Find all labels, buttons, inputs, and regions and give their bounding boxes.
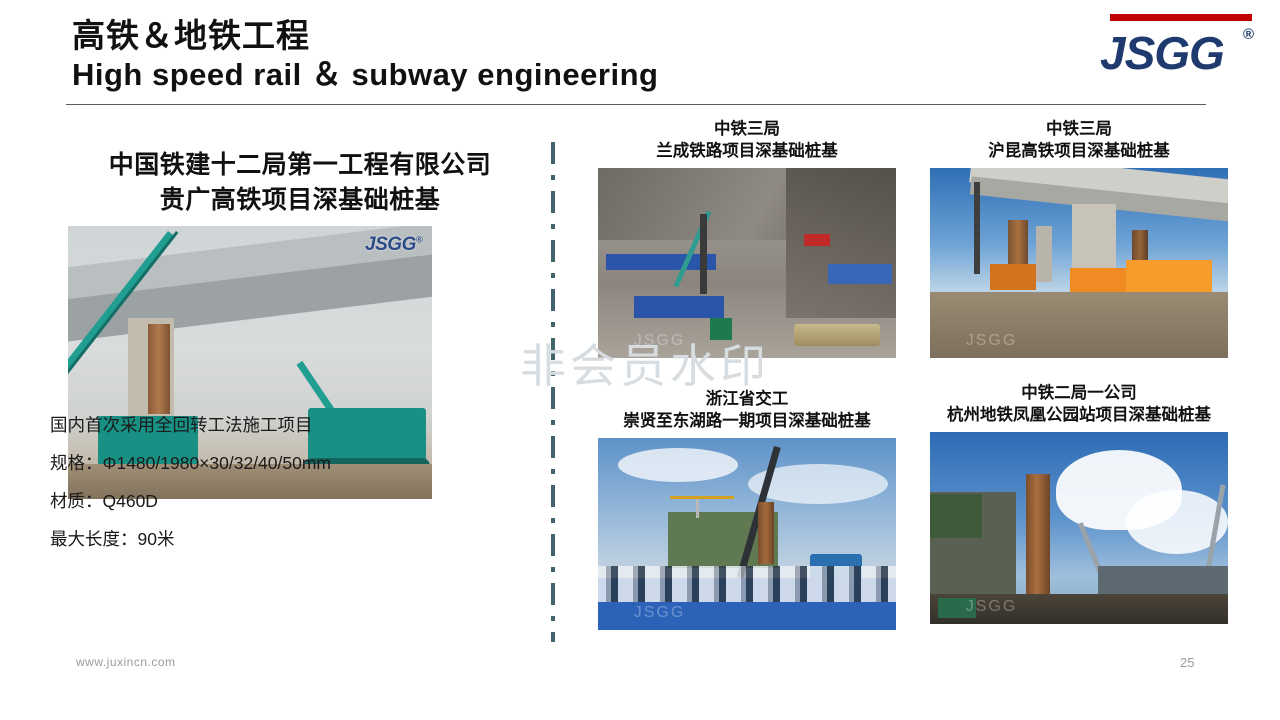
spec-item-1: 规格：Φ1480/1980×30/32/40/50mm [50, 444, 520, 482]
left-heading-line1: 中国铁建十二局第一工程有限公司 [30, 148, 570, 182]
gallery-cell-1: 中铁三局 沪昆高铁项目深基础桩基 JSGG [930, 118, 1228, 358]
logo-red-bar [1110, 14, 1252, 21]
gallery-caption-3-line1: 中铁二局一公司 [930, 382, 1228, 404]
photo-3-steel-casing-tube [1026, 474, 1050, 598]
spec-item-2: 材质：Q460D [50, 482, 520, 520]
photo-2-tower-crane-mast [696, 496, 699, 518]
photo-1-pier-small [1036, 226, 1052, 282]
photo-2-cloud-a [618, 448, 738, 482]
photo-watermark-reg-icon: ® [416, 235, 422, 245]
photo-0-blue-container [828, 264, 892, 284]
photo-0-drill-mast [700, 214, 707, 294]
gallery-cell-0: 中铁三局 兰成铁路项目深基础桩基 JSGG [598, 118, 896, 358]
gallery-photo-3: JSGG [930, 432, 1228, 624]
photo-0-blue-barrier-b [634, 296, 724, 318]
photo-3-green-container [938, 598, 976, 618]
gallery-caption-1-line1: 中铁三局 [930, 118, 1228, 140]
photo-1-casing-a [1008, 220, 1028, 266]
gallery-photo-0: JSGG [598, 168, 896, 358]
photo-1-orange-container [1126, 260, 1212, 292]
photo-1-drill-mast [974, 182, 980, 274]
gallery-photo-1: JSGG [930, 168, 1228, 358]
title-block: 高铁＆地铁工程 High speed rail ＆ subway enginee… [72, 16, 658, 94]
spec-item-3: 最大长度：90米 [50, 520, 520, 558]
photo-3-trees [930, 494, 982, 538]
spec-list: 国内首次采用全回转工法施工项目 规格：Φ1480/1980×30/32/40/5… [50, 406, 520, 558]
photo-jsgg-watermark: JSGG® [365, 234, 422, 256]
gallery-caption-0-line2: 兰成铁路项目深基础桩基 [598, 140, 896, 162]
gallery-photo-2: JSGG [598, 438, 896, 630]
gallery-caption-3-line2: 杭州地铁凤凰公园站项目深基础桩基 [930, 404, 1228, 426]
left-heading: 中国铁建十二局第一工程有限公司 贵广高铁项目深基础桩基 [0, 128, 600, 218]
header-divider-rule [66, 104, 1206, 105]
photo-2-lifting-casing [758, 502, 774, 564]
photo-2-tower-crane-jib [670, 496, 734, 499]
photo-steel-casing [148, 324, 170, 414]
photo-1-ground [930, 292, 1228, 358]
gallery-caption-2-line2: 崇贤至东湖路一期项目深基础桩基 [598, 410, 896, 432]
photo-2-crowd-of-workers [598, 566, 896, 602]
logo-registered-icon: ® [1243, 26, 1254, 43]
vertical-dash-dot-divider [551, 142, 555, 642]
gallery-cell-3: 中铁二局一公司 杭州地铁凤凰公园站项目深基础桩基 JSGG [930, 382, 1228, 624]
photo-1-orange-rig [990, 264, 1036, 290]
photo-0-green-box [710, 318, 732, 340]
footer-website-url[interactable]: www.juxincn.com [76, 655, 176, 669]
page-title-en: High speed rail ＆ subway engineering [72, 56, 658, 94]
jsgg-logo: JSGG ® [1088, 8, 1256, 86]
slide-header: 高铁＆地铁工程 High speed rail ＆ subway enginee… [0, 0, 1280, 108]
photo-0-pipe-stack [794, 324, 880, 346]
gallery-caption-2-line1: 浙江省交工 [598, 388, 896, 410]
gallery-cell-2: 浙江省交工 崇贤至东湖路一期项目深基础桩基 JSGG [598, 388, 896, 630]
photo-watermark-text: JSGG [365, 234, 416, 255]
page-title-cn: 高铁＆地铁工程 [72, 16, 658, 56]
photo-0-cliff [786, 168, 896, 318]
photo-0-red-banner [804, 234, 830, 246]
gallery-caption-1-line2: 沪昆高铁项目深基础桩基 [930, 140, 1228, 162]
footer-page-number: 25 [1180, 655, 1194, 670]
spec-item-0: 国内首次采用全回转工法施工项目 [50, 406, 520, 444]
gallery-caption-0-line1: 中铁三局 [598, 118, 896, 140]
logo-wordmark: JSGG [1100, 26, 1224, 80]
left-heading-line2: 贵广高铁项目深基础桩基 [30, 182, 570, 218]
